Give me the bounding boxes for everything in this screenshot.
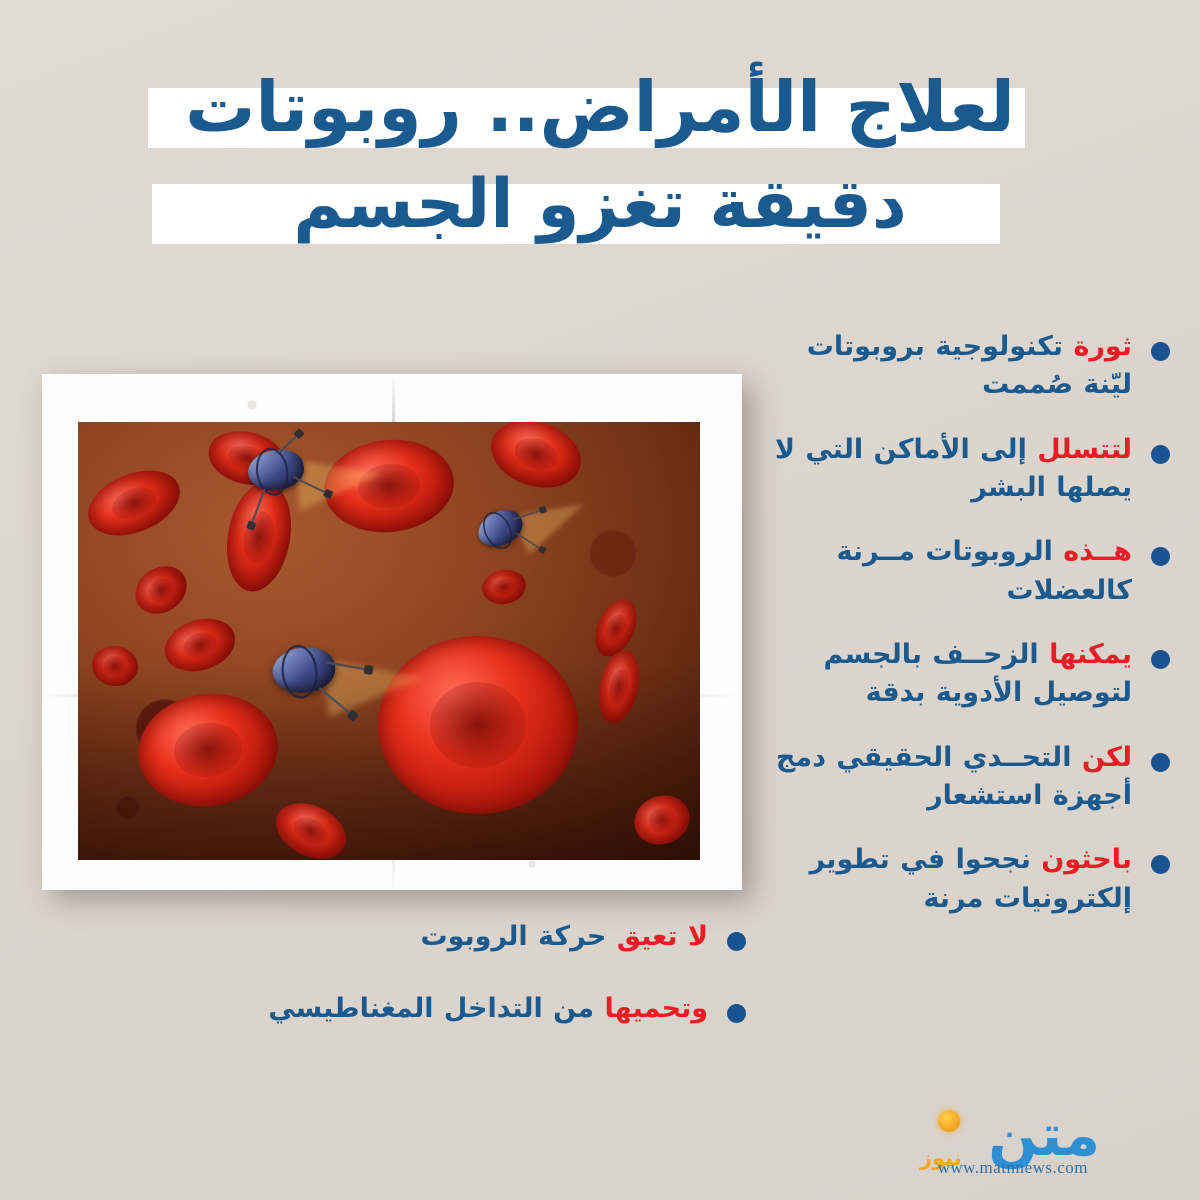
bullet-rest: من التداخل المغناطيسي [268,993,604,1024]
nanorobot [263,637,347,703]
list-item: ثورة تكنولوجية بروبوتات ليّنة صُممت [754,328,1174,405]
photo-frame [42,374,742,890]
logo-website-url: www.matnnews.com [938,1158,1088,1178]
bullet-list-left: لا تعيق حركة الروبوت وتحميها من التداخل … [150,918,750,1055]
bullet-highlight: باحثون [1041,844,1132,875]
logo-wordmark: متن [988,1106,1100,1164]
infographic-page: لعلاج الأمراض.. روبوتات دقيقة تغزو الجسم [0,0,1200,1200]
bullet-text: يمكنها الزحــف بالجسم لتوصيل الأدوية بدق… [754,636,1132,713]
bullet-dot-icon [1151,547,1170,566]
sun-icon [938,1110,960,1132]
bullet-dot-icon [1151,342,1170,361]
bullet-rest: التحــدي الحقيقي دمج أجهزة استشعار [776,742,1132,811]
bullet-highlight: ثورة [1073,331,1132,362]
title-line-2: دقيقة تغزو الجسم [0,156,1200,254]
title-line-1: لعلاج الأمراض.. روبوتات [0,58,1200,156]
bullet-highlight: لكن [1082,742,1132,773]
bullet-rest: حركة الروبوت [420,921,616,952]
list-item: باحثون نجحوا في تطوير إلكترونيات مرنة [754,841,1174,918]
bullet-dot-icon [1151,855,1170,874]
bullet-text: لا تعيق حركة الروبوت [150,918,708,956]
list-item: لا تعيق حركة الروبوت [150,918,750,956]
bullet-dot-icon [727,932,746,951]
bullet-highlight: لتتسلل [1037,434,1132,465]
bullet-highlight: وتحميها [605,993,708,1024]
bullet-highlight: يمكنها [1049,639,1132,670]
site-logo[interactable]: متن نيوز www.matnnews.com [886,1104,1106,1188]
nanorobot [239,439,316,500]
bullet-text: هــذه الروبوتات مــرنة كالعضلات [754,533,1132,610]
nanorobot-blood-photo [78,422,700,860]
page-title: لعلاج الأمراض.. روبوتات دقيقة تغزو الجسم [0,58,1200,254]
list-item: هــذه الروبوتات مــرنة كالعضلات [754,533,1174,610]
nanorobot-light-beam [323,649,425,717]
bullet-dot-icon [1151,445,1170,464]
bullet-text: وتحميها من التداخل المغناطيسي [150,990,708,1028]
bullet-text: ثورة تكنولوجية بروبوتات ليّنة صُممت [754,328,1132,405]
bullet-dot-icon [1151,753,1170,772]
list-item: لكن التحــدي الحقيقي دمج أجهزة استشعار [754,739,1174,816]
bullet-highlight: هــذه [1063,536,1132,567]
bullet-dot-icon [727,1004,746,1023]
bullet-text: لتتسلل إلى الأماكن التي لا يصلها البشر [754,431,1132,508]
title-text-2: دقيقة تغزو الجسم [293,165,907,244]
list-item: لتتسلل إلى الأماكن التي لا يصلها البشر [754,431,1174,508]
bullet-text: لكن التحــدي الحقيقي دمج أجهزة استشعار [754,739,1132,816]
list-item: وتحميها من التداخل المغناطيسي [150,990,750,1028]
bullet-text: باحثون نجحوا في تطوير إلكترونيات مرنة [754,841,1132,918]
bullet-highlight: لا تعيق [617,921,708,952]
title-text-1: لعلاج الأمراض.. روبوتات [185,66,1015,148]
list-item: يمكنها الزحــف بالجسم لتوصيل الأدوية بدق… [754,636,1174,713]
bullet-dot-icon [1151,650,1170,669]
bullet-list-right: ثورة تكنولوجية بروبوتات ليّنة صُممت لتتس… [754,328,1174,944]
